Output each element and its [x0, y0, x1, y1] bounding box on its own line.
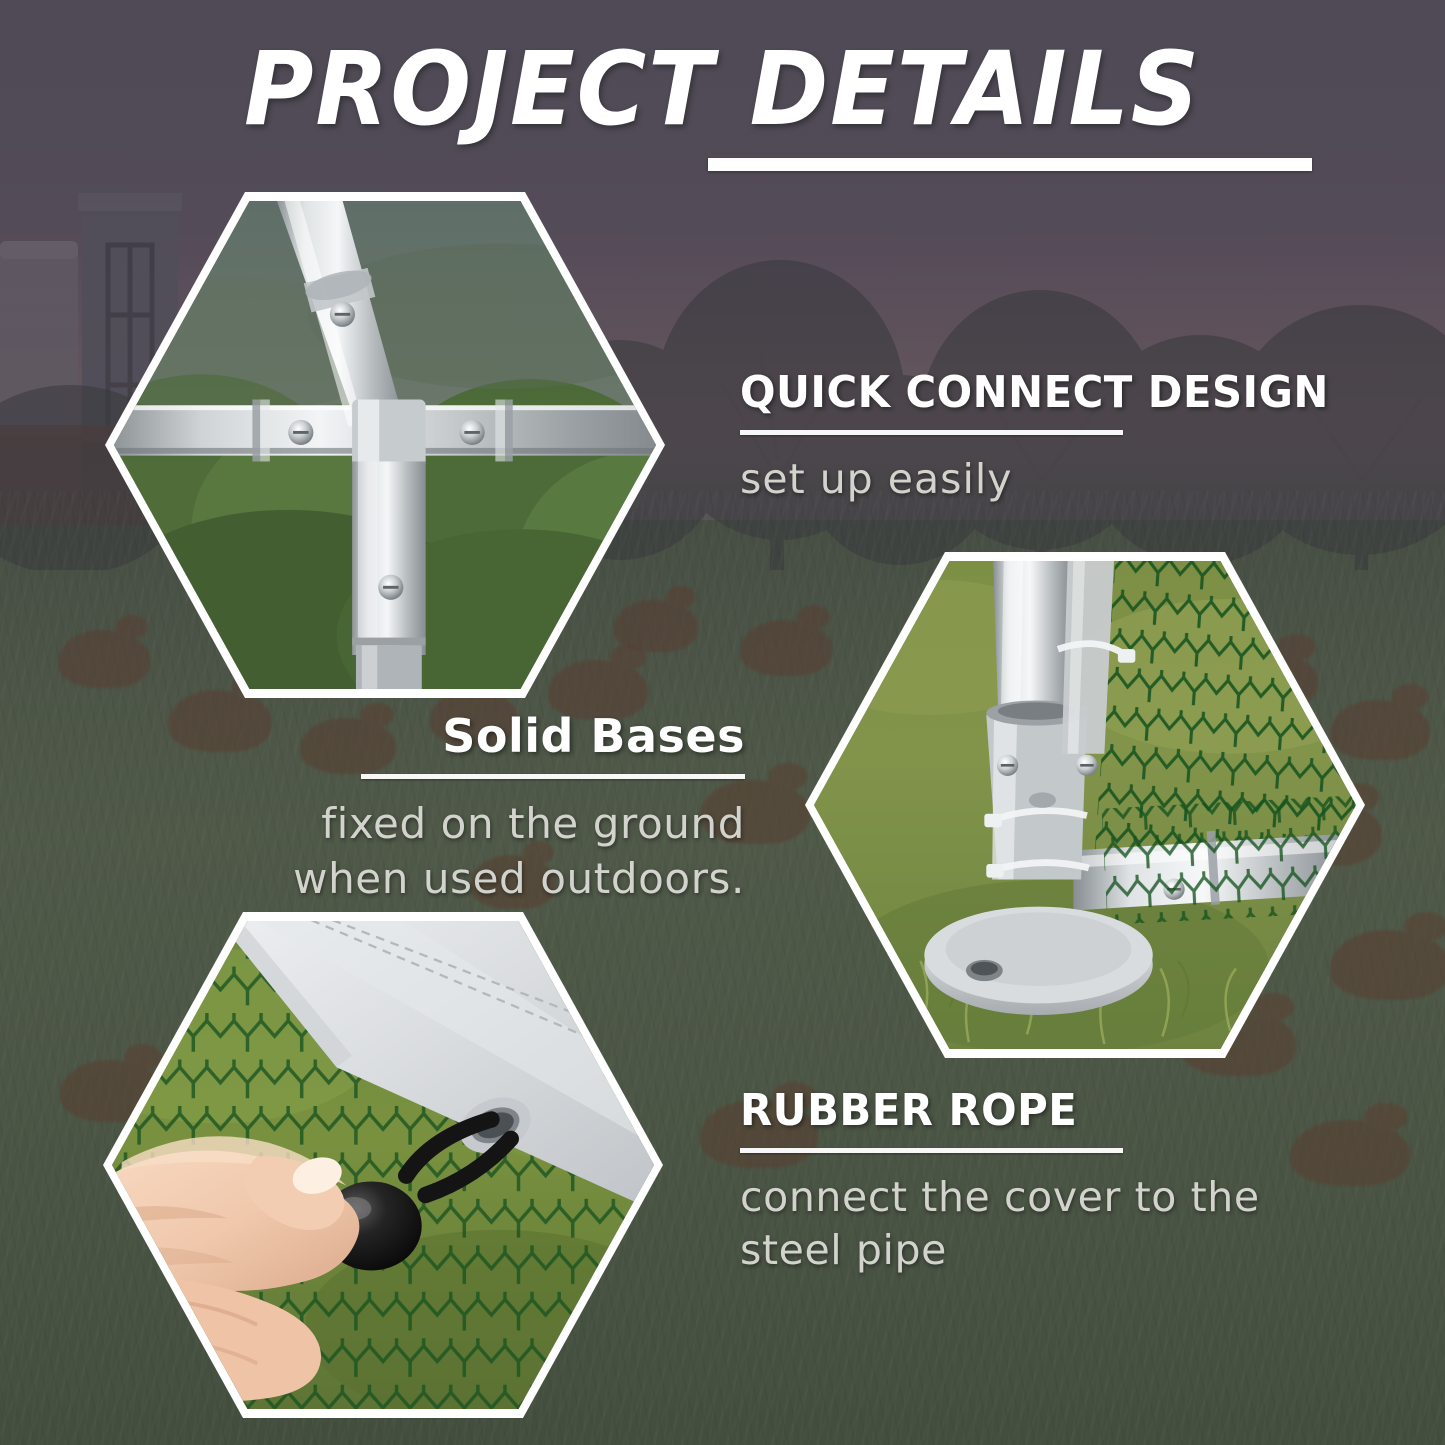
feature-rubber-rope: RUBBER ROPE connect the cover to the ste… — [740, 1088, 1320, 1278]
feature-title-solid-bases: Solid Bases — [240, 712, 745, 760]
feature-solid-bases: Solid Bases fixed on the ground when use… — [240, 712, 745, 906]
feature-title-rubber-rope: RUBBER ROPE — [740, 1088, 1291, 1134]
title-underline — [708, 158, 1312, 171]
feature-divider-solid-bases — [361, 774, 745, 779]
feature-quick-connect: QUICK CONNECT DESIGN set up easily — [740, 370, 1320, 506]
feature-subtitle-rubber-rope-line1: connect the cover to the — [740, 1171, 1320, 1224]
feature-subtitle-rubber-rope-line2: steel pipe — [740, 1224, 1320, 1277]
feature-divider-quick-connect — [740, 430, 1123, 435]
page-title: PROJECT DETAILS — [51, 36, 1395, 143]
feature-title-quick-connect: QUICK CONNECT DESIGN — [740, 370, 1291, 416]
feature-subtitle-solid-bases-line2: when used outdoors. — [240, 852, 745, 907]
feature-divider-rubber-rope — [740, 1148, 1123, 1153]
infographic-canvas: PROJECT DETAILS — [0, 0, 1445, 1445]
feature-subtitle-solid-bases-line1: fixed on the ground — [240, 797, 745, 852]
feature-subtitle-quick-connect: set up easily — [740, 453, 1320, 506]
